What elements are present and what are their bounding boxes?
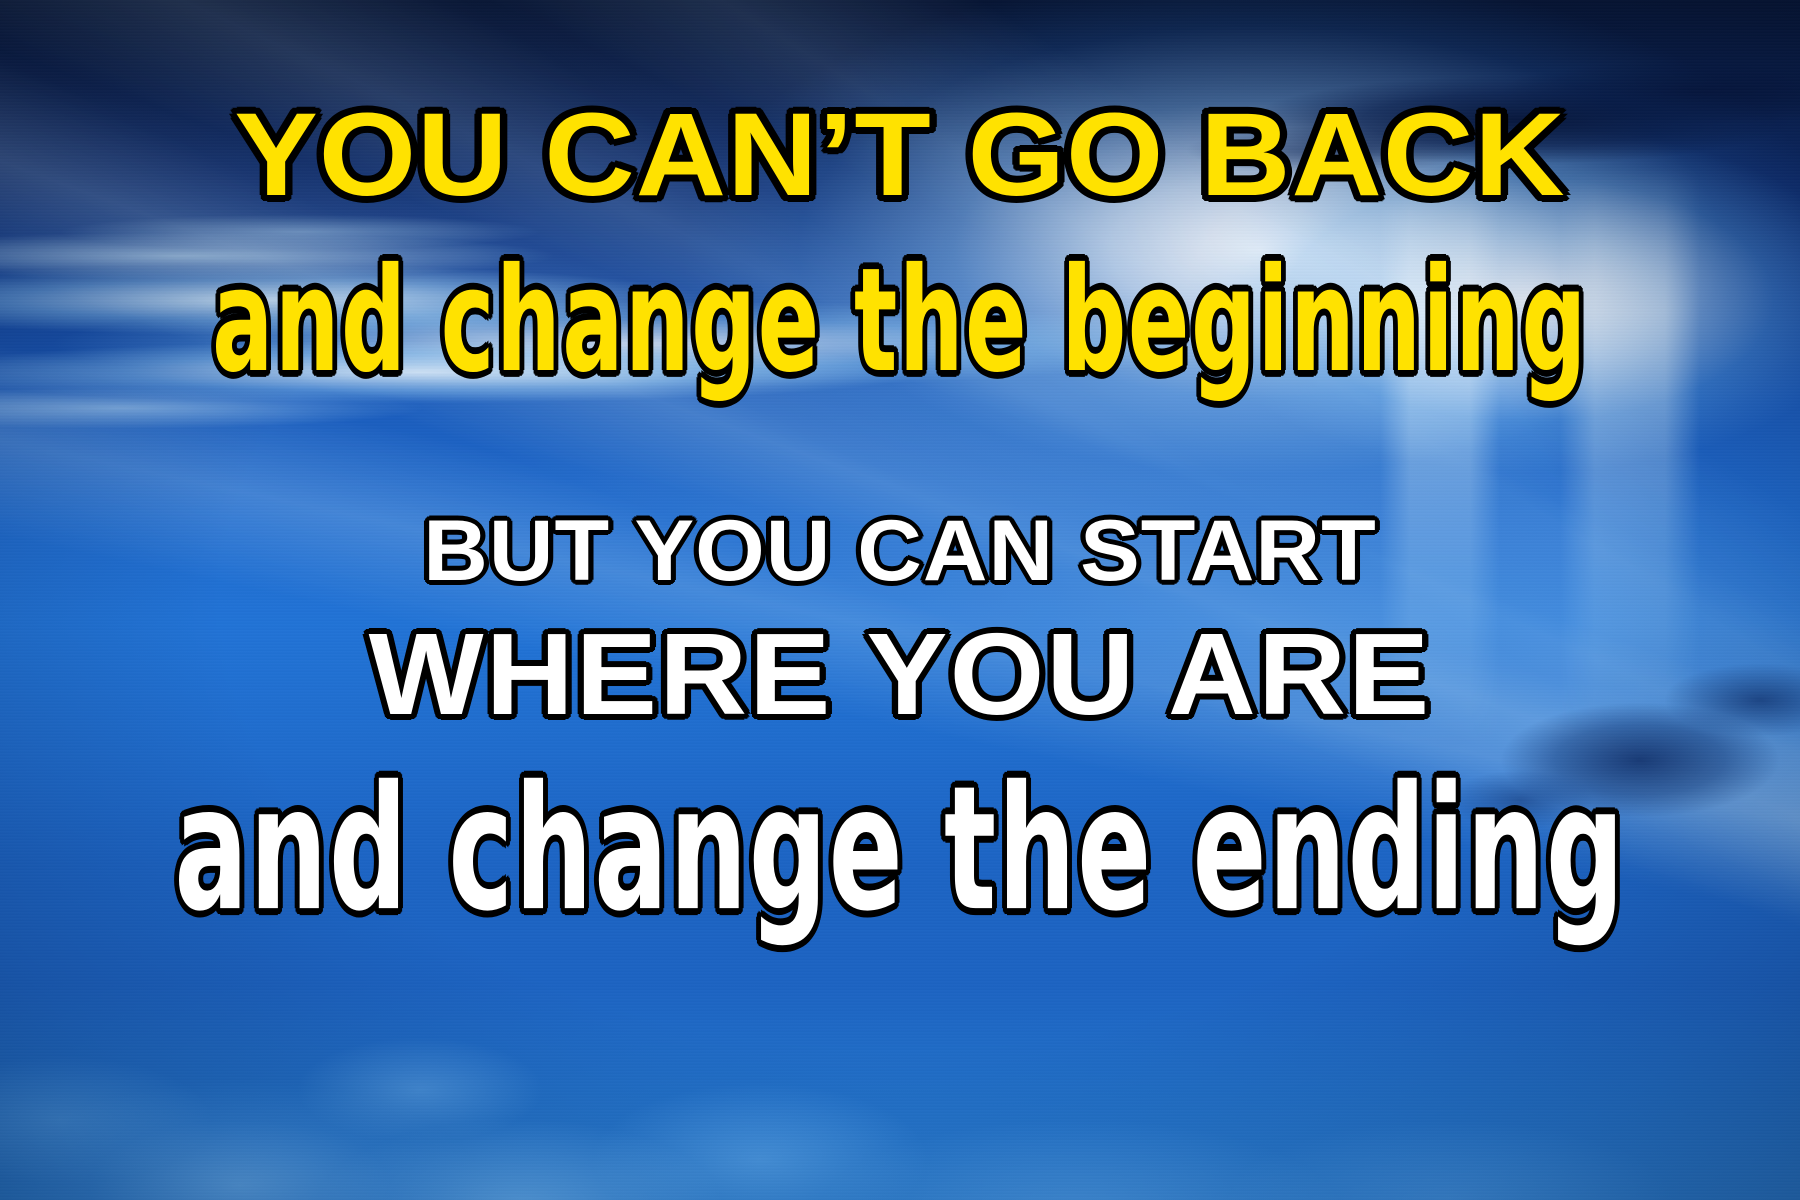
quote-poster: YOU CAN’T GO BACK and change the beginni… [0, 0, 1800, 1200]
quote-line-5: and change the ending [162, 763, 1638, 935]
quote-line-4: WHERE YOU ARE [0, 616, 1800, 732]
quote-line-1: YOU CAN’T GO BACK [0, 96, 1800, 214]
quote-line-3: BUT YOU CAN START [0, 508, 1800, 594]
quote-text-block: YOU CAN’T GO BACK and change the beginni… [0, 0, 1800, 1200]
quote-line-2: and change the beginning [180, 249, 1620, 393]
